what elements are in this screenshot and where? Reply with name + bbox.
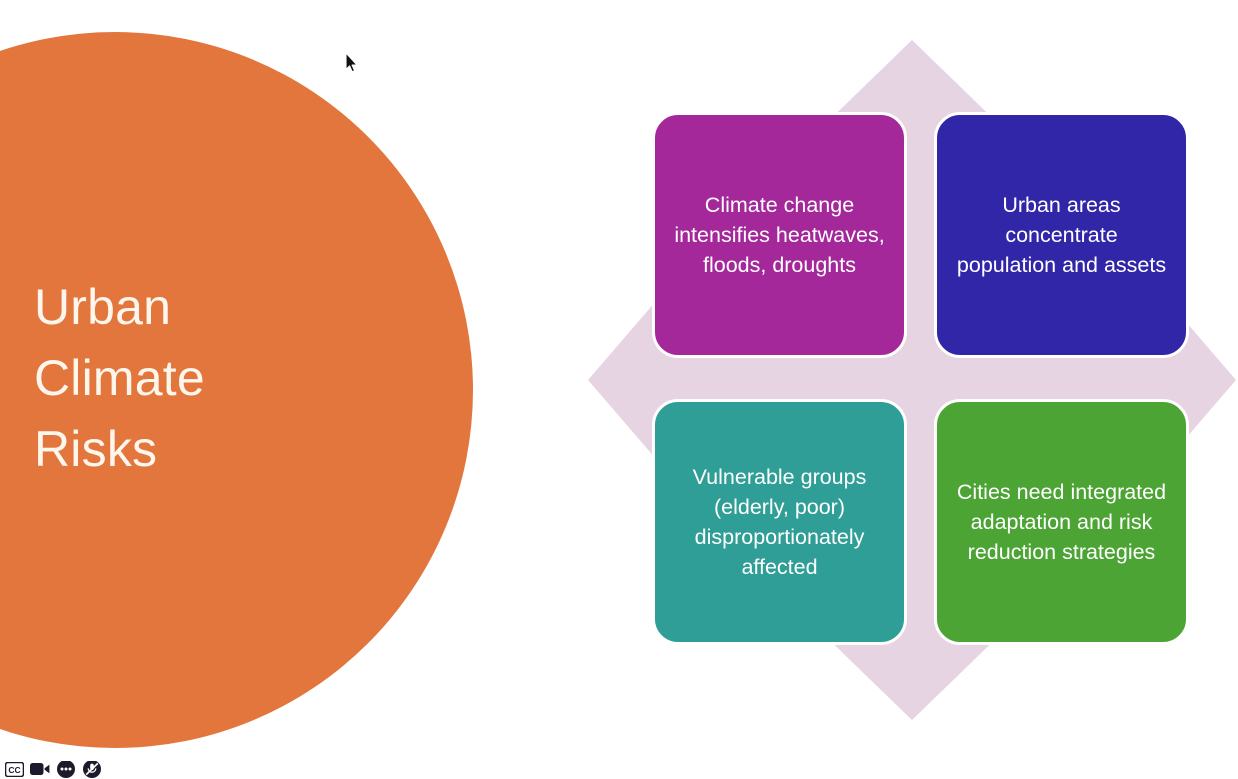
quadrant-top-left[interactable]: Climate change intensifies heatwaves, fl… <box>652 112 907 358</box>
camera-icon[interactable] <box>30 761 50 779</box>
mute-microphone-icon[interactable] <box>82 761 102 779</box>
quadrant-bottom-right-text: Cities need integrated adaptation and ri… <box>953 477 1170 567</box>
call-controls-bar: CC <box>4 761 102 779</box>
quadrant-top-right[interactable]: Urban areas concentrate population and a… <box>934 112 1189 358</box>
presentation-slide: Urban Climate Risks Climate change inten… <box>0 0 1238 779</box>
quadrant-grid: Climate change intensifies heatwaves, fl… <box>652 112 1189 645</box>
closed-captions-icon[interactable]: CC <box>4 761 24 779</box>
quadrant-bottom-left[interactable]: Vulnerable groups (elderly, poor) dispro… <box>652 399 907 645</box>
svg-text:CC: CC <box>8 765 20 775</box>
quadrant-top-right-text: Urban areas concentrate population and a… <box>953 190 1170 280</box>
more-options-icon[interactable] <box>56 761 76 779</box>
slide-title: Urban Climate Risks <box>34 272 364 485</box>
quadrant-bottom-right[interactable]: Cities need integrated adaptation and ri… <box>934 399 1189 645</box>
quadrant-bottom-left-text: Vulnerable groups (elderly, poor) dispro… <box>671 462 888 582</box>
quadrant-top-left-text: Climate change intensifies heatwaves, fl… <box>671 190 888 280</box>
mouse-pointer <box>345 52 359 74</box>
